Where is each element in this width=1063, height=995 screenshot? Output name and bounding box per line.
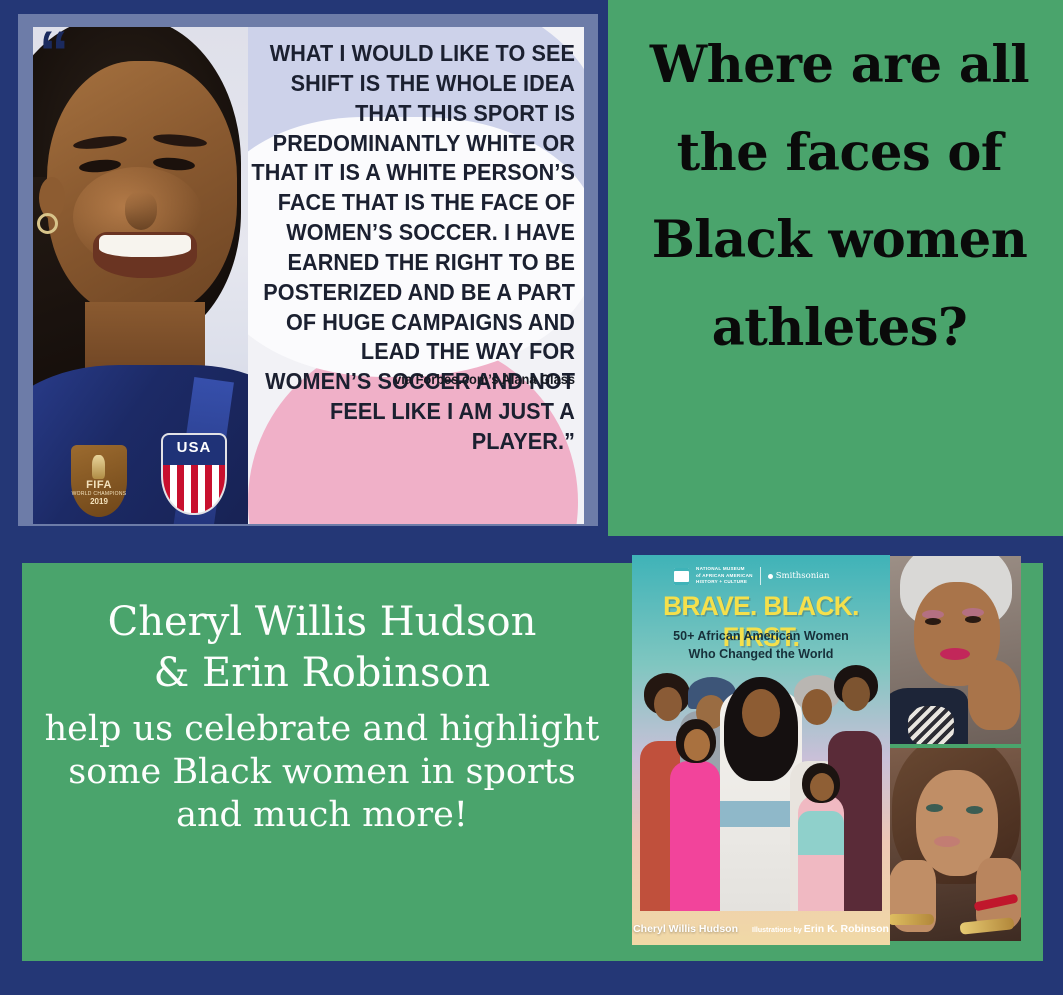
poster-canvas: FIFA WORLD CHAMPIONS 2019 ★ ★ ★ ★ USA “ …: [0, 0, 1063, 995]
logo-divider: [760, 567, 761, 585]
hudson-eye-right: [965, 616, 981, 623]
athlete-teeth: [99, 235, 191, 257]
trophy-icon: [92, 455, 105, 479]
fifa-world-champions-badge: FIFA WORLD CHAMPIONS 2019: [71, 445, 127, 517]
nmaahc-corona-icon: [674, 568, 689, 585]
hudson-necklace: [908, 706, 954, 744]
athlete-nose: [125, 192, 157, 230]
figure-grey-head: [802, 689, 832, 725]
figure-girl-head: [810, 773, 834, 801]
book-subtitle-line2: Who Changed the World: [632, 645, 890, 663]
book-illustrator-credit: Illustrations by Erin K. Robinson: [752, 923, 889, 935]
bottom-text-block: Cheryl Willis Hudson & Erin Robinson hel…: [22, 600, 622, 839]
illustrator-prefix: Illustrations by: [752, 927, 802, 934]
book-credits: Cheryl Willis Hudson Illustrations by Er…: [632, 923, 890, 935]
hoop-earring-icon: [37, 213, 58, 234]
museum-logo-line3: HISTORY + CULTURE: [696, 579, 753, 586]
quote-text: What I would like to see shift is the wh…: [251, 39, 575, 457]
crest-usa-label: USA: [163, 439, 225, 456]
figure-pink-woman: [670, 761, 720, 911]
book-cover: NATIONAL MUSEUM of AFRICAN AMERICAN HIST…: [632, 555, 890, 945]
hudson-hand: [968, 660, 1020, 730]
figure-afro-head: [654, 687, 682, 721]
museum-logo-text: NATIONAL MUSEUM of AFRICAN AMERICAN HIST…: [696, 566, 753, 587]
hudson-eye-left: [925, 618, 941, 625]
museum-logo: NATIONAL MUSEUM of AFRICAN AMERICAN HIST…: [674, 563, 854, 589]
body-line3: and much more!: [22, 796, 622, 835]
illustrator-name: Erin K. Robinson: [804, 923, 889, 935]
robinson-eye-right: [966, 806, 983, 814]
fifa-badge-line1: FIFA: [71, 479, 127, 491]
crest-stripes: [163, 465, 225, 513]
author-name-line1: Cheryl Willis Hudson: [22, 600, 622, 645]
robinson-eye-left: [926, 804, 943, 812]
figure-center-head: [742, 689, 780, 737]
figure-girl-top: [798, 811, 844, 855]
body-line2: some Black women in sports: [22, 753, 622, 792]
robinson-gold-bracelet-right: [960, 917, 1015, 935]
hudson-lips: [940, 648, 970, 660]
body-line1: help us celebrate and highlight: [22, 710, 622, 749]
usa-soccer-crest: ★ ★ ★ ★ USA: [163, 435, 225, 513]
museum-logo-line1: NATIONAL MUSEUM: [696, 566, 753, 573]
page-headline: Where are all the faces of Black women a…: [616, 22, 1063, 373]
smithsonian-label: Smithsonian: [776, 571, 830, 581]
quote-attribution: via Forbes.com’s Alana Glass: [345, 372, 575, 387]
smithsonian-sun-icon: [768, 574, 773, 579]
robinson-lips: [934, 836, 960, 847]
robinson-gold-bracelet-left: [890, 914, 934, 925]
smithsonian-logo: Smithsonian: [768, 571, 830, 581]
portrait-erin-k-robinson: [890, 748, 1021, 941]
figure-maroon-head: [842, 677, 870, 711]
book-author: Cheryl Willis Hudson: [633, 923, 738, 935]
quote-card: FIFA WORLD CHAMPIONS 2019 ★ ★ ★ ★ USA “ …: [33, 27, 584, 524]
book-illustration-figures: [632, 663, 890, 911]
figure-pink-head: [684, 729, 710, 761]
portrait-cheryl-willis-hudson: [890, 556, 1021, 744]
museum-logo-line2: of AFRICAN AMERICAN: [696, 573, 753, 580]
athlete-photo: FIFA WORLD CHAMPIONS 2019 ★ ★ ★ ★ USA: [33, 27, 248, 524]
athlete-smile: [93, 232, 197, 278]
opening-quote-mark: “: [39, 29, 67, 77]
author-name-line2: & Erin Robinson: [22, 651, 622, 696]
book-subtitle: 50+ African American Women Who Changed t…: [632, 627, 890, 663]
book-subtitle-line1: 50+ African American Women: [632, 627, 890, 645]
fifa-badge-line3: 2019: [71, 497, 127, 506]
